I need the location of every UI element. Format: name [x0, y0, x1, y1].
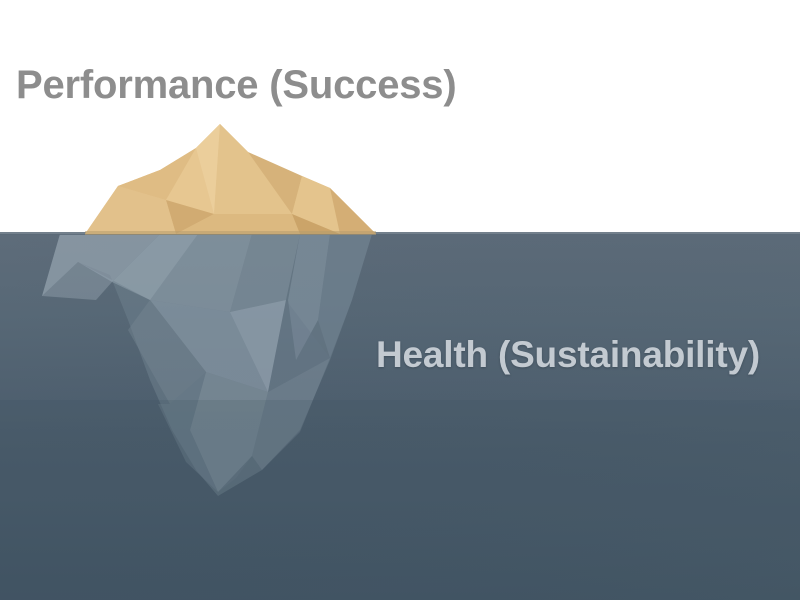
- caption-health-sustainability: Health (Sustainability): [376, 333, 760, 377]
- slide-canvas: Performance (Success) Health (Sustainabi…: [0, 0, 800, 600]
- depth-haze-2: [0, 400, 800, 600]
- caption-performance-success: Performance (Success): [16, 62, 456, 108]
- tip-waterline-wet-band: [85, 231, 376, 235]
